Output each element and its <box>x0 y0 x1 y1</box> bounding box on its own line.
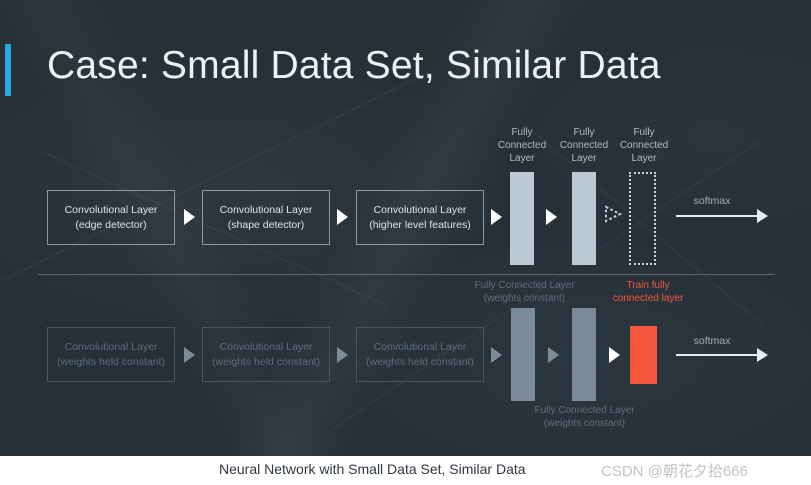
train-fc-layer-label: Train fully connected layer <box>608 279 688 305</box>
bottom-softmax-arrow-line <box>676 354 759 356</box>
top-conv-box-3: Convolutional Layer (higher level featur… <box>356 190 484 245</box>
row-divider <box>38 274 775 275</box>
top-arrow-1-icon <box>184 209 195 225</box>
top-arrow-3-icon <box>491 209 502 225</box>
bottom-arrow-4-icon <box>548 347 559 363</box>
bottom-arrow-3-icon <box>491 347 502 363</box>
bottom-fc-bar-1 <box>511 308 535 401</box>
figure-caption: Neural Network with Small Data Set, Simi… <box>219 461 526 477</box>
bottom-fc-bar-2 <box>572 308 596 401</box>
top-arrow-4-icon <box>546 209 557 225</box>
title-accent-bar <box>5 44 11 96</box>
bottom-arrow-1-icon <box>184 347 195 363</box>
bottom-conv-box-2: Convolutional Layer (weights held consta… <box>202 327 330 382</box>
train-fc-bar <box>630 326 657 384</box>
bottom-arrow-5-icon <box>609 347 620 363</box>
top-softmax-label: softmax <box>672 195 752 207</box>
top-conv-box-1: Convolutional Layer (edge detector) <box>47 190 175 245</box>
bottom-fc-label-top: Fully Connected Layer (weights constant) <box>466 279 583 305</box>
top-arrow-2-icon <box>337 209 348 225</box>
bottom-softmax-label: softmax <box>672 335 752 347</box>
top-softmax-arrow-line <box>676 215 759 217</box>
top-fc-bar-3-placeholder <box>629 172 656 265</box>
top-conv-box-2: Convolutional Layer (shape detector) <box>202 190 330 245</box>
top-fc-bar-1 <box>510 172 534 265</box>
bottom-fc-label-bottom: Fully Connected Layer (weights constant) <box>526 404 643 430</box>
bottom-softmax-arrow-head-icon <box>757 348 768 362</box>
top-softmax-arrow-head-icon <box>757 209 768 223</box>
slide-canvas: Case: Small Data Set, Similar Data Convo… <box>0 0 811 485</box>
top-fc-label-2: Fully Connected Layer <box>555 126 613 165</box>
bottom-conv-box-1: Convolutional Layer (weights held consta… <box>47 327 175 382</box>
top-fc-label-3: Fully Connected Layer <box>615 126 673 165</box>
bottom-conv-box-3: Convolutional Layer (weights held consta… <box>356 327 484 382</box>
top-dashed-arrow-icon <box>604 205 624 223</box>
top-fc-label-1: Fully Connected Layer <box>493 126 551 165</box>
page-title: Case: Small Data Set, Similar Data <box>47 44 661 88</box>
top-fc-bar-2 <box>572 172 596 265</box>
bottom-arrow-2-icon <box>337 347 348 363</box>
csdn-watermark: CSDN @朝花夕拾666 <box>601 460 748 481</box>
